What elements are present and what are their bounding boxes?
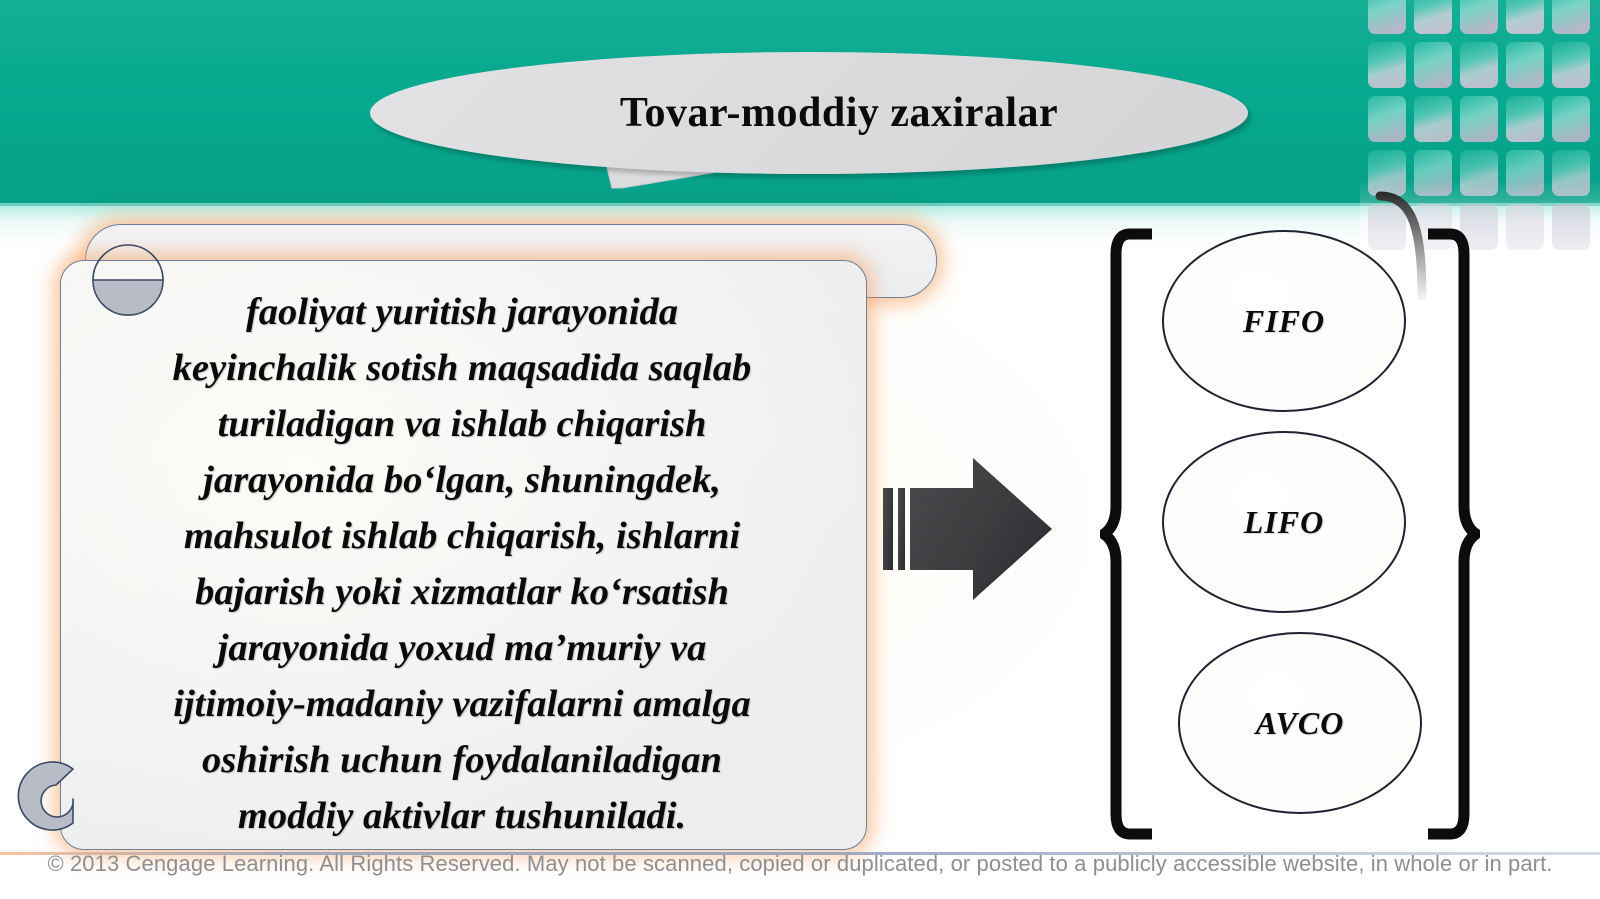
method-label: AVCO: [1256, 705, 1345, 742]
definition-line: bajarish yoki xizmatlar ko‘rsatish: [72, 564, 852, 620]
definition-line: keyinchalik sotish maqsadida saqlab: [72, 340, 852, 396]
method-ellipse-lifo: LIFO: [1162, 431, 1406, 613]
scroll-curl-bottom-icon: [0, 757, 76, 833]
method-label: LIFO: [1244, 504, 1324, 541]
method-ellipse-avco: AVCO: [1178, 632, 1422, 814]
method-ellipse-fifo: FIFO: [1162, 230, 1406, 412]
title-bubble: Tovar-moddiy zaxiralar: [370, 52, 1248, 174]
definition-line: moddiy aktivlar tushuniladi.: [72, 788, 852, 844]
methods-group: FIFO LIFO AVCO: [1100, 228, 1480, 840]
slide-canvas: Tovar-moddiy zaxiralar faoliyat yuritish…: [0, 0, 1600, 899]
definition-line: mahsulot ishlab chiqarish, ishlarni: [72, 508, 852, 564]
left-curly-brace-icon: [1100, 228, 1160, 840]
definition-line: oshirish uchun foydalaniladigan: [72, 732, 852, 788]
method-label: FIFO: [1243, 303, 1325, 340]
right-curly-brace-icon: [1420, 228, 1480, 840]
right-arrow-icon: [880, 452, 1065, 607]
definition-text: faoliyat yuritish jarayonida keyinchalik…: [72, 284, 852, 844]
definition-scroll-panel: faoliyat yuritish jarayonida keyinchalik…: [0, 212, 960, 862]
definition-line: ijtimoiy-madaniy vazifalarni amalga: [72, 676, 852, 732]
definition-line: jarayonida yoxud ma’muriy va: [72, 620, 852, 676]
definition-line: faoliyat yuritish jarayonida: [72, 284, 852, 340]
page-title: Tovar-moddiy zaxiralar: [370, 52, 1248, 174]
copyright-footer: © 2013 Cengage Learning. All Rights Rese…: [0, 851, 1600, 877]
definition-line: jarayonida bo‘lgan, shuningdek,: [72, 452, 852, 508]
definition-line: turiladigan va ishlab chiqarish: [72, 396, 852, 452]
